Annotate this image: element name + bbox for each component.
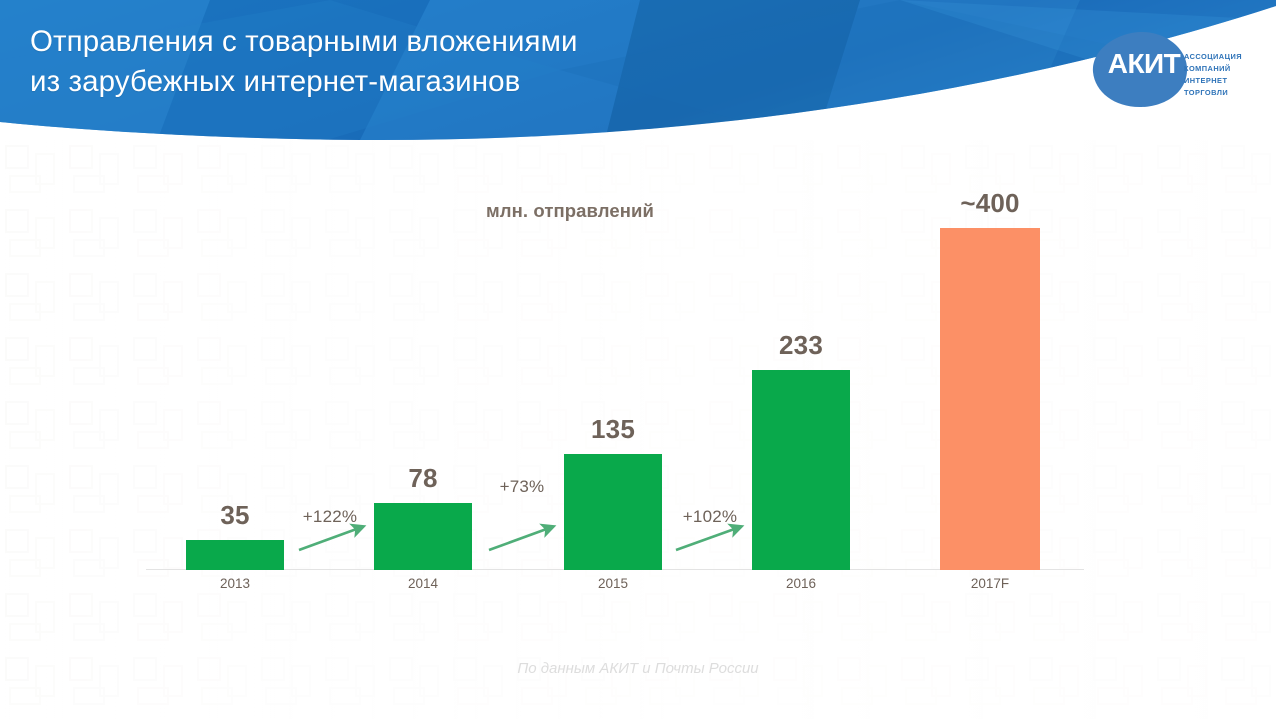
growth-label-2013-2014: +122% (288, 507, 372, 527)
bar-chart: млн. отправлений 35 78 135 233 ~400 2013… (0, 160, 1276, 719)
slide-canvas: Отправления с товарными вложениями из за… (0, 0, 1276, 719)
bar-value-2016: 233 (752, 330, 850, 361)
header-band: Отправления с товарными вложениями из за… (0, 0, 1276, 160)
category-label-2016: 2016 (752, 576, 850, 591)
category-label-2015: 2015 (564, 576, 662, 591)
page-title: Отправления с товарными вложениями из за… (30, 22, 790, 102)
bar-value-2017f: ~400 (930, 188, 1050, 219)
logo-tagline: АССОЦИАЦИЯ КОМПАНИЙ ИНТЕРНЕТ ТОРГОВЛИ (1184, 51, 1242, 99)
bar-value-2013: 35 (186, 500, 284, 531)
category-label-2013: 2013 (186, 576, 284, 591)
bar-2017f[interactable] (940, 228, 1040, 570)
category-label-2014: 2014 (374, 576, 472, 591)
logo-wordmark: АКИТ (1096, 50, 1192, 78)
growth-label-2014-2015: +73% (480, 477, 564, 497)
growth-label-2015-2016: +102% (666, 507, 754, 527)
arrow-2013-2014 (299, 527, 362, 550)
bar-value-2015: 135 (564, 414, 662, 445)
bar-2015[interactable] (564, 454, 662, 570)
bar-2016[interactable] (752, 370, 850, 570)
source-note: По данным АКИТ и Почты России (0, 660, 1276, 677)
category-label-2017f: 2017F (940, 576, 1040, 591)
bar-2013[interactable] (186, 540, 284, 570)
arrow-2015-2016 (676, 527, 740, 550)
chart-plot-area: 35 78 135 233 ~400 2013 2014 2015 2016 2… (0, 160, 1276, 719)
akit-logo: АКИТ АССОЦИАЦИЯ КОМПАНИЙ ИНТЕРНЕТ ТОРГОВ… (1088, 30, 1263, 108)
bar-value-2014: 78 (374, 463, 472, 494)
bar-2014[interactable] (374, 503, 472, 570)
arrow-2014-2015 (489, 527, 552, 550)
